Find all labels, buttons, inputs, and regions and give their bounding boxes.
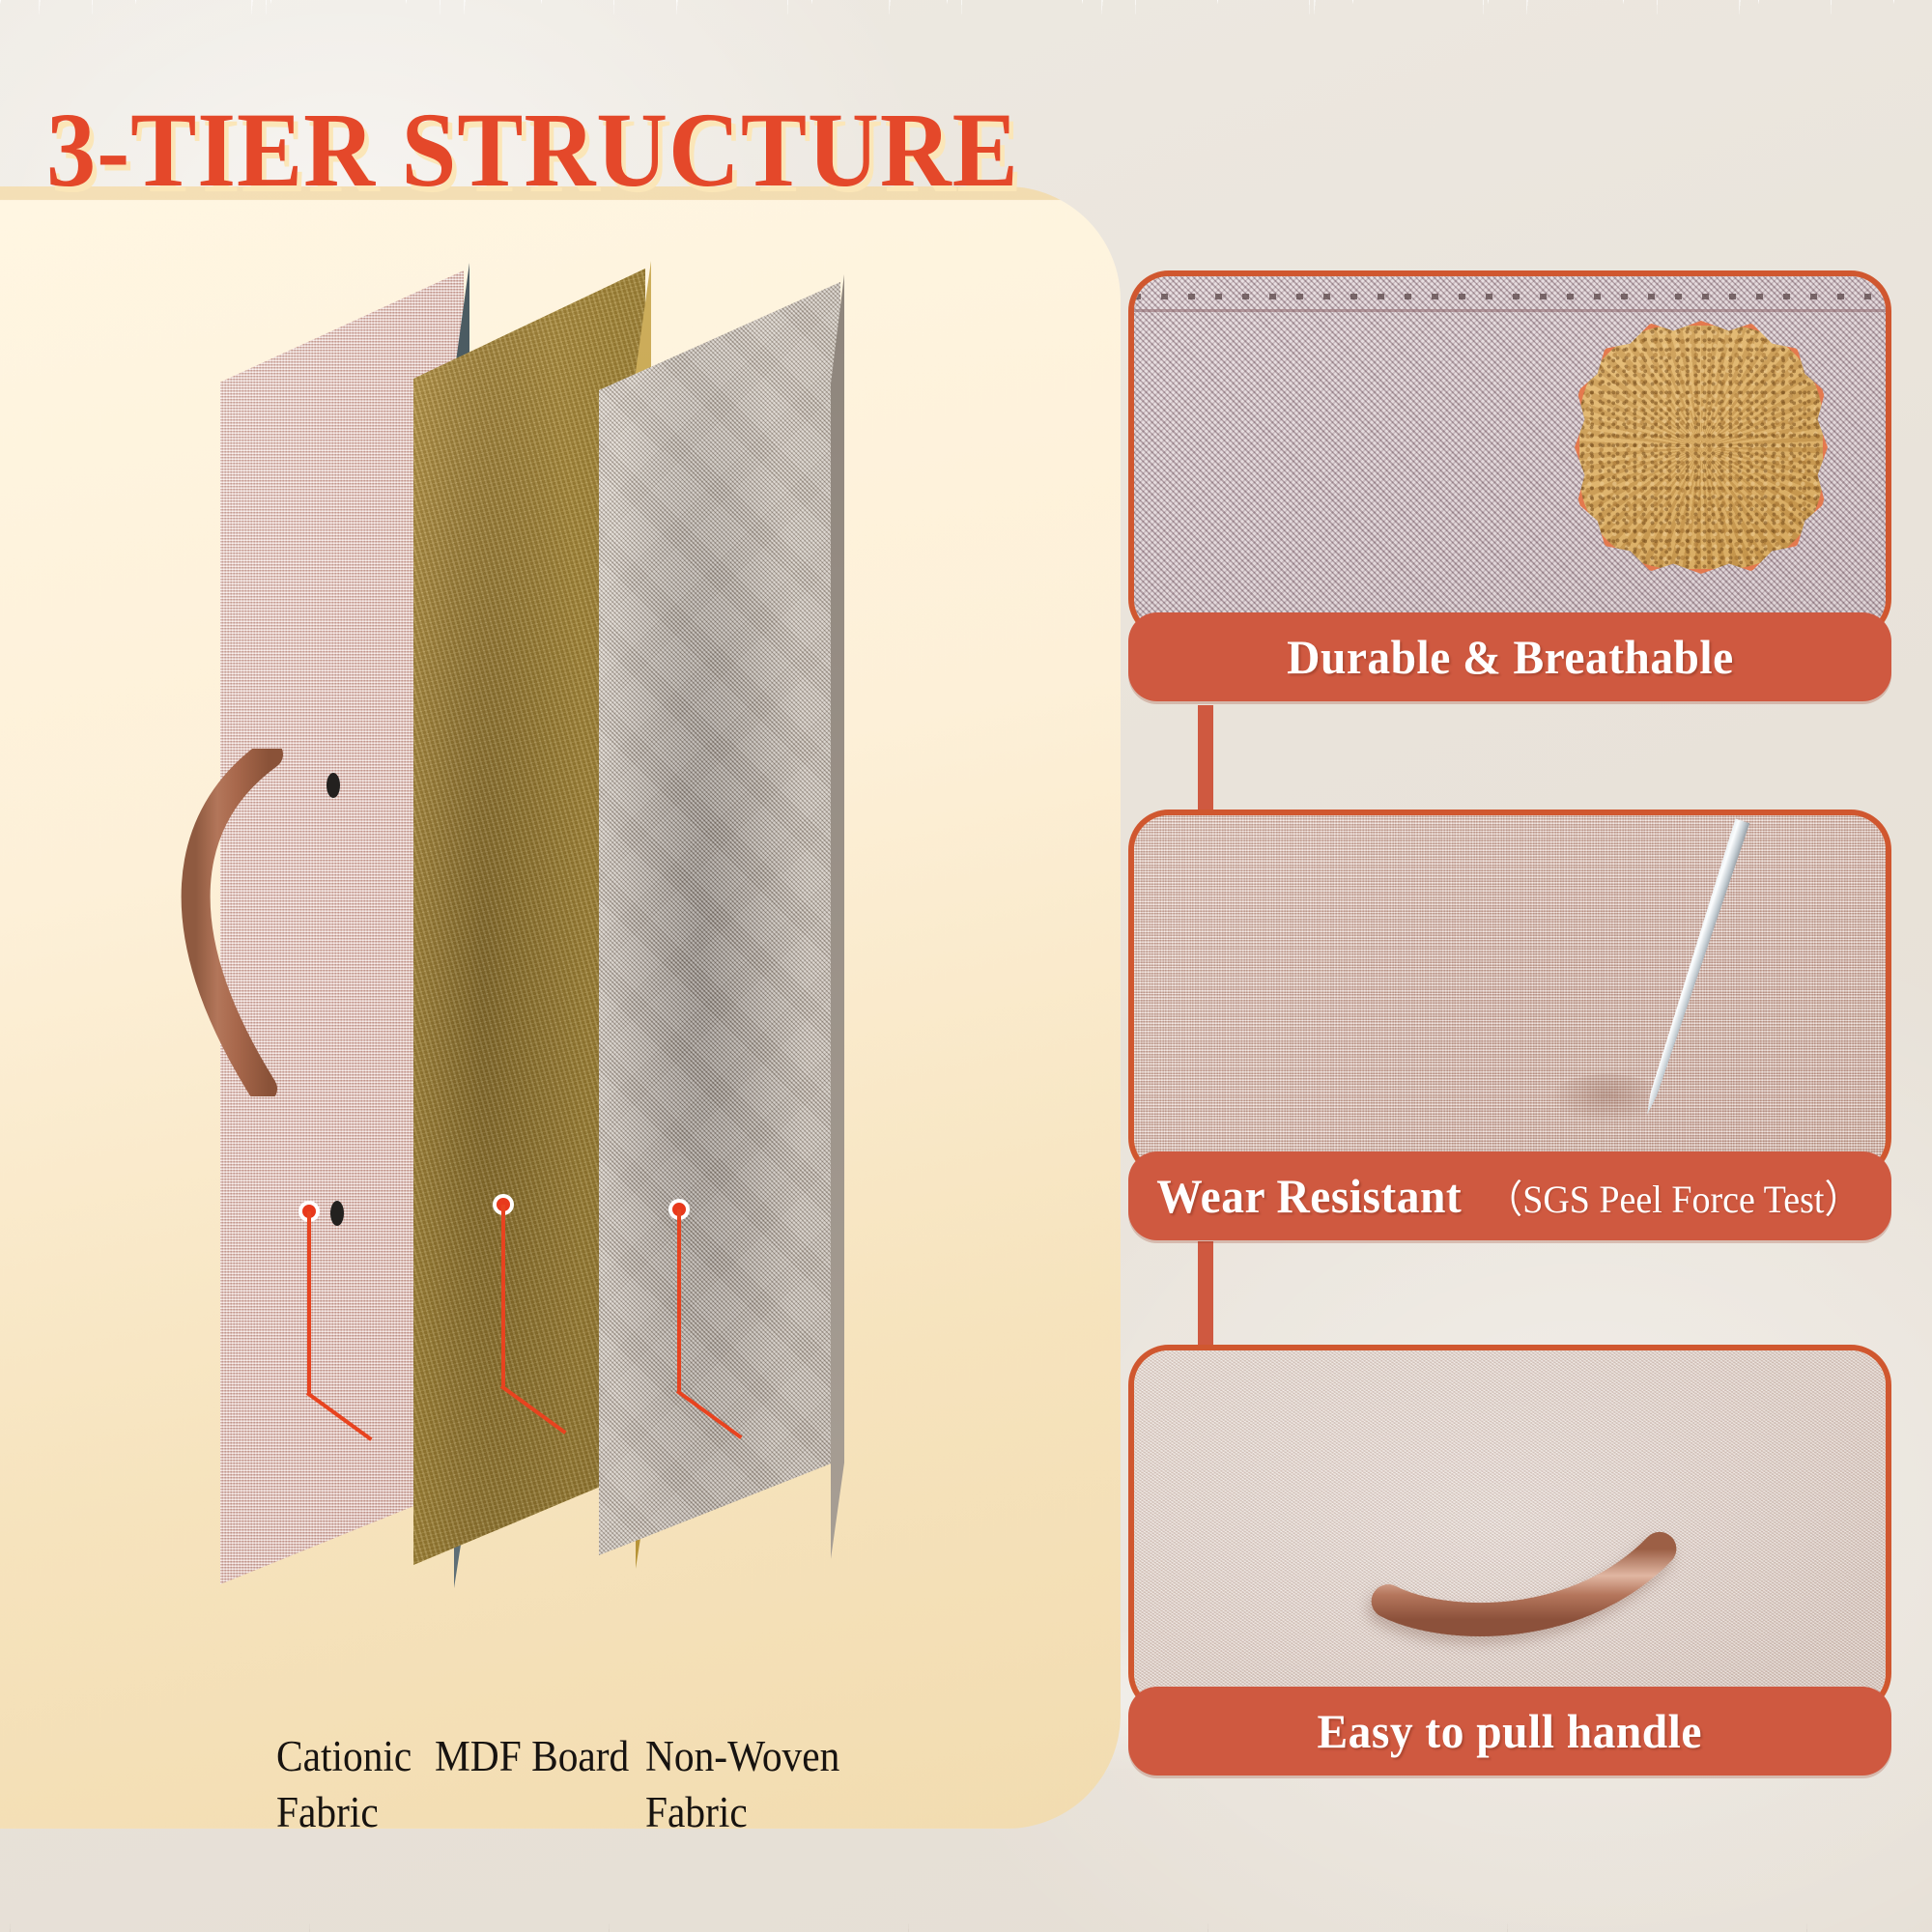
feature-caption-text: Durable & Breathable [1287, 629, 1734, 685]
feature-caption-note: （SGS Peel Force Test） [1486, 1168, 1861, 1224]
feature-card-easy-pull-handle[interactable]: Easy to pull handle [1128, 1345, 1891, 1776]
layer-slab-non-woven-fabric [599, 282, 840, 1555]
feature-photo-easy-pull-handle [1128, 1345, 1891, 1714]
cork-flower-patch-icon [1575, 321, 1828, 574]
feature-caption-text: Wear Resistant [1157, 1168, 1463, 1224]
layer-edge-non-woven-fabric [831, 274, 844, 1559]
canvas-fabric-texture [1134, 815, 1886, 1173]
feature-card-durable-breathable[interactable]: Durable & Breathable [1128, 270, 1891, 701]
layer-label-cationic-fabric: Cationic Fabric [276, 1729, 412, 1840]
feature-caption-text: Easy to pull handle [1318, 1703, 1702, 1759]
layer-label-mdf-board: MDF Board [435, 1729, 629, 1785]
copper-handle-icon [1134, 1350, 1886, 1708]
feature-photo-durable-breathable [1128, 270, 1891, 639]
seam-line [1134, 309, 1886, 312]
feature-card-wear-resistant[interactable]: Wear Resistant （SGS Peel Force Test） [1128, 810, 1891, 1240]
feature-caption-easy-pull-handle: Easy to pull handle [1128, 1687, 1891, 1776]
pull-handle-icon [145, 749, 290, 1096]
page-title: 3-TIER STRUCTURE [46, 93, 1019, 208]
screw-hole-bottom [330, 1201, 344, 1226]
feature-caption-wear-resistant: Wear Resistant （SGS Peel Force Test） [1128, 1151, 1891, 1240]
feature-photo-wear-resistant [1128, 810, 1891, 1179]
screw-hole-top [327, 773, 340, 798]
stitch-line [1134, 294, 1886, 299]
layer-label-non-woven-fabric: Non-Woven Fabric [645, 1729, 839, 1840]
needle-dent [1549, 1074, 1665, 1124]
feature-caption-durable-breathable: Durable & Breathable [1128, 612, 1891, 701]
